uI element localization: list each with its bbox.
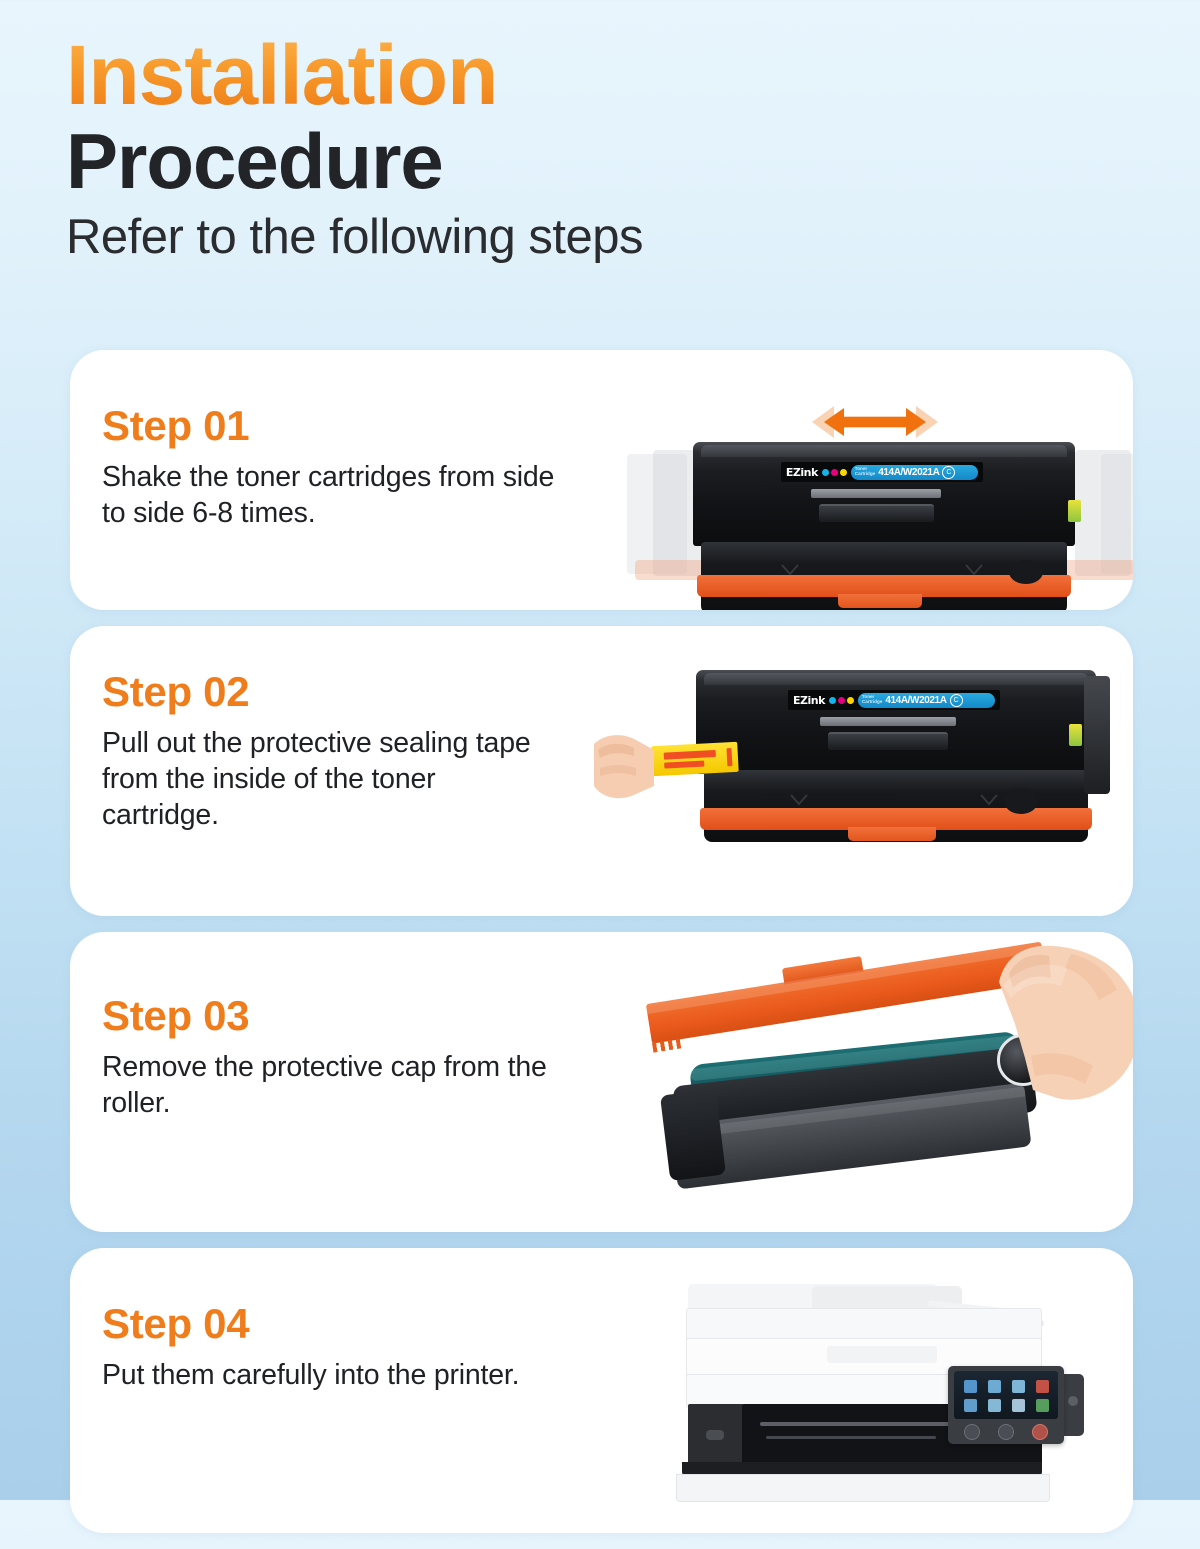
screen-icon-status[interactable] bbox=[1036, 1399, 1049, 1412]
cartridge-base-tab bbox=[838, 594, 922, 608]
printer-cancel-button[interactable] bbox=[1032, 1424, 1048, 1440]
printer-handle-recess bbox=[827, 1346, 937, 1363]
cartridge-model-band: Toner Cartridge 414A/W2021A C bbox=[858, 693, 995, 708]
cartridge-shell: EZink Toner Cartridge 414A/W2021A C bbox=[693, 442, 1075, 546]
step-card-02: Step 02 Pull out the protective sealing … bbox=[70, 626, 1133, 916]
page-subtitle: Refer to the following steps bbox=[66, 212, 1200, 263]
step-03-label: Step 03 bbox=[102, 992, 572, 1040]
cartridge-color-code: C bbox=[950, 694, 963, 707]
cartridge-model-code: 414A/W2021A bbox=[878, 467, 939, 478]
nfc-icon bbox=[1068, 1396, 1078, 1406]
step-02-label: Step 02 bbox=[102, 668, 532, 716]
cartridge-round-detail bbox=[1009, 560, 1043, 584]
step-02-artwork-pull-seal-tape: EZink Toner Cartridge 414A/W2021A C bbox=[600, 656, 1130, 836]
cartridge-model-code: 414A/W2021A bbox=[885, 695, 946, 706]
cartridge-mark-right-icon bbox=[980, 794, 998, 806]
step-03-text-block: Step 03 Remove the protective cap from t… bbox=[102, 992, 572, 1122]
cartridge-brand: EZink bbox=[793, 694, 825, 707]
step-02-text-block: Step 02 Pull out the protective sealing … bbox=[102, 668, 532, 834]
step-card-03: Step 03 Remove the protective cap from t… bbox=[70, 932, 1133, 1232]
cartridge-top-ridge bbox=[704, 673, 1088, 685]
cartridge-left-end bbox=[660, 1089, 726, 1181]
printer-left-panel bbox=[688, 1404, 744, 1464]
screen-icon-supplies[interactable] bbox=[1036, 1380, 1049, 1393]
cartridge-round-detail bbox=[1004, 788, 1038, 814]
page-title-installation: Installation bbox=[66, 34, 497, 116]
cartridge-base-tab bbox=[848, 827, 936, 841]
cmyk-dots-icon bbox=[822, 469, 847, 476]
step-01-text-block: Step 01 Shake the toner cartridges from … bbox=[102, 402, 572, 532]
cartridge-mark-left-icon bbox=[790, 794, 808, 806]
cartridge-color-code: C bbox=[942, 466, 955, 479]
cartridge-mid-bar bbox=[820, 717, 956, 726]
screen-icon-copy[interactable] bbox=[964, 1380, 977, 1393]
hand-icon bbox=[975, 938, 1133, 1123]
step-04-description: Put them carefully into the printer. bbox=[102, 1358, 519, 1394]
cartridge-type-line2: Cartridge bbox=[862, 700, 882, 705]
cartridge-mark-left-icon bbox=[781, 564, 799, 576]
screen-icon-scan[interactable] bbox=[988, 1380, 1001, 1393]
step-01-artwork-toner-cartridge: EZink Toner Cartridge 414A/W2021A C bbox=[645, 428, 1125, 598]
cartridge-body: EZink Toner Cartridge 414A/W2021A C bbox=[696, 670, 1096, 830]
cap-teeth bbox=[652, 1037, 687, 1052]
step-02-description: Pull out the protective sealing tape fro… bbox=[102, 726, 532, 834]
cartridge-model-band: Toner Cartridge 414A/W2021A C bbox=[851, 465, 979, 480]
cartridge-top-ridge bbox=[701, 445, 1067, 457]
shake-double-arrow-icon bbox=[810, 398, 940, 446]
cartridge-label: EZink Toner Cartridge 414A/W2021A C bbox=[781, 462, 983, 482]
printer-touchscreen[interactable] bbox=[954, 1371, 1058, 1419]
steps-list: Step 01 Shake the toner cartridges from … bbox=[70, 350, 1133, 1549]
printer-panel-side bbox=[1062, 1374, 1084, 1436]
cartridge-grip bbox=[828, 732, 948, 750]
cmyk-dots-icon bbox=[829, 697, 854, 704]
step-04-text-block: Step 04 Put them carefully into the prin… bbox=[102, 1300, 519, 1394]
printer-base bbox=[676, 1474, 1050, 1502]
cartridge-chip bbox=[1069, 724, 1082, 746]
page-title-procedure: Procedure bbox=[66, 122, 1200, 202]
step-01-description: Shake the toner cartridges from side to … bbox=[102, 460, 572, 532]
printer-control-panel[interactable] bbox=[948, 1366, 1064, 1444]
step-04-artwork-printer bbox=[660, 1262, 1120, 1530]
screen-icon-fax[interactable] bbox=[1012, 1380, 1025, 1393]
cartridge-shell: EZink Toner Cartridge 414A/W2021A C bbox=[696, 670, 1096, 774]
cartridge-mid-bar bbox=[811, 489, 941, 498]
cartridge-body: EZink Toner Cartridge 414A/W2021A C bbox=[693, 442, 1075, 597]
cartridge-mark-right-icon bbox=[965, 564, 983, 576]
screen-icon-apps[interactable] bbox=[988, 1399, 1001, 1412]
cartridge-label: EZink Toner Cartridge 414A/W2021A C bbox=[788, 690, 1000, 710]
cartridge-grip bbox=[819, 504, 934, 522]
printer-scanner-body bbox=[686, 1308, 1042, 1342]
page-header: Installation Procedure Refer to the foll… bbox=[0, 0, 1200, 263]
cartridge-chip bbox=[1068, 500, 1081, 522]
step-03-description: Remove the protective cap from the rolle… bbox=[102, 1050, 572, 1122]
step-card-04: Step 04 Put them carefully into the prin… bbox=[70, 1248, 1133, 1533]
step-04-label: Step 04 bbox=[102, 1300, 519, 1348]
step-card-01: Step 01 Shake the toner cartridges from … bbox=[70, 350, 1133, 610]
step-03-artwork-remove-protective-cap bbox=[645, 942, 1133, 1232]
hand-icon bbox=[592, 728, 682, 808]
screen-icon-copy-id[interactable] bbox=[964, 1399, 977, 1412]
printer-help-button[interactable] bbox=[998, 1424, 1014, 1440]
cartridge-end-cap bbox=[1084, 676, 1110, 794]
printer-home-button[interactable] bbox=[964, 1424, 980, 1440]
step-01-label: Step 01 bbox=[102, 402, 572, 450]
printer-logo-icon bbox=[706, 1430, 724, 1440]
screen-icon-setup[interactable] bbox=[1012, 1399, 1025, 1412]
cartridge-brand: EZink bbox=[786, 466, 818, 479]
cartridge-type-line2: Cartridge bbox=[855, 472, 875, 477]
